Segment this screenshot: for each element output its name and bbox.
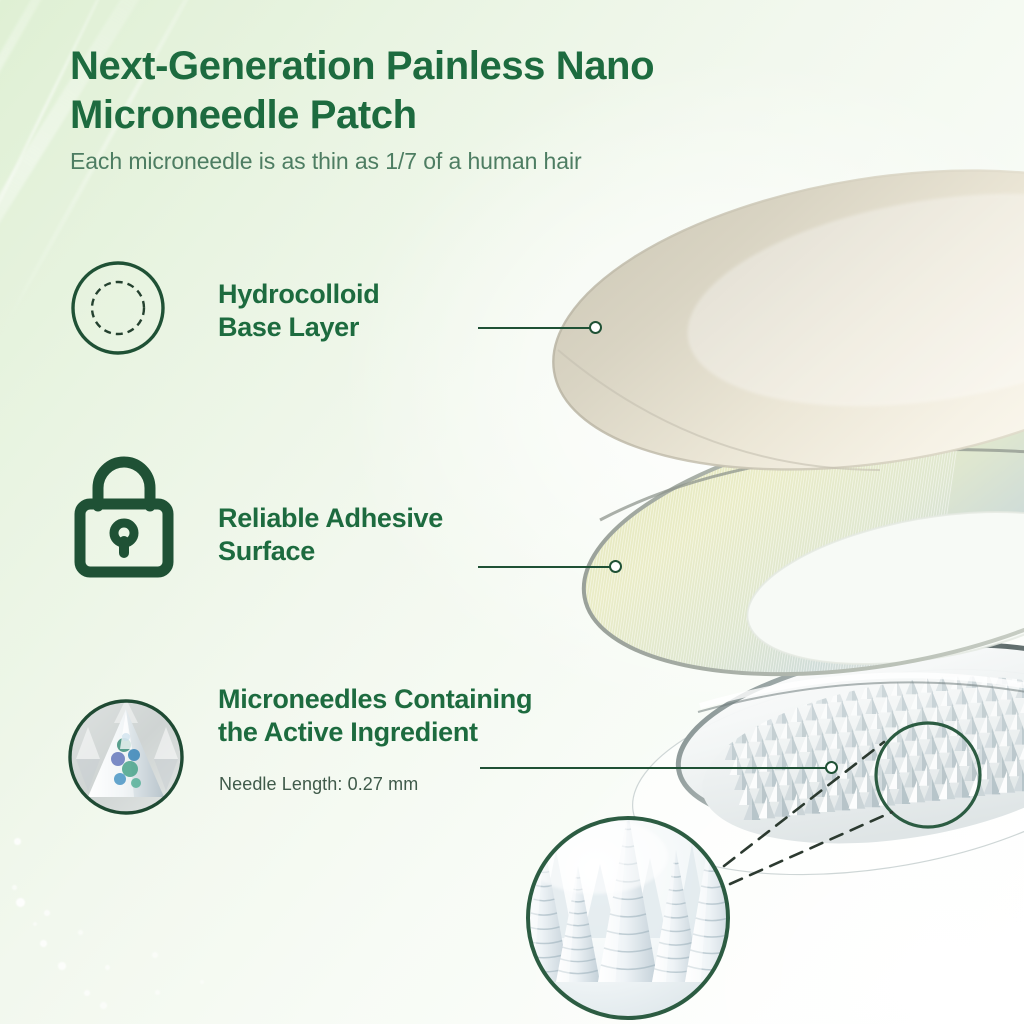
leader-dot-adhesive	[609, 560, 622, 573]
leader-dot-hydrocolloid	[589, 321, 602, 334]
zoom-connector-lines	[724, 742, 892, 884]
dashed-circle-icon	[68, 258, 168, 363]
hydrocolloid-base-disc	[532, 128, 1024, 512]
infographic-canvas: Next-Generation Painless Nano Microneedl…	[0, 0, 1024, 1024]
leader-line-hydrocolloid	[478, 327, 598, 329]
lock-icon	[70, 450, 178, 583]
microneedle-zoom-bubble	[518, 812, 739, 1018]
zoom-source-circle	[876, 723, 980, 827]
microneedle-array-disc	[618, 617, 1024, 906]
leader-dot-microneedles	[825, 761, 838, 774]
feature-label-microneedles: Microneedles Containing the Active Ingre…	[218, 683, 532, 749]
leader-line-microneedles	[480, 767, 832, 769]
feature-label-hydrocolloid: Hydrocolloid Base Layer	[218, 278, 379, 344]
feature-label-adhesive: Reliable Adhesive Surface	[218, 502, 443, 568]
leader-line-adhesive	[478, 566, 618, 568]
adhesive-ring	[533, 375, 1024, 716]
microneedle-cone-icon	[66, 697, 186, 822]
page-subtitle: Each microneedle is as thin as 1/7 of a …	[70, 148, 770, 175]
page-title: Next-Generation Painless Nano Microneedl…	[70, 42, 710, 140]
needle-length-caption: Needle Length: 0.27 mm	[219, 774, 418, 795]
